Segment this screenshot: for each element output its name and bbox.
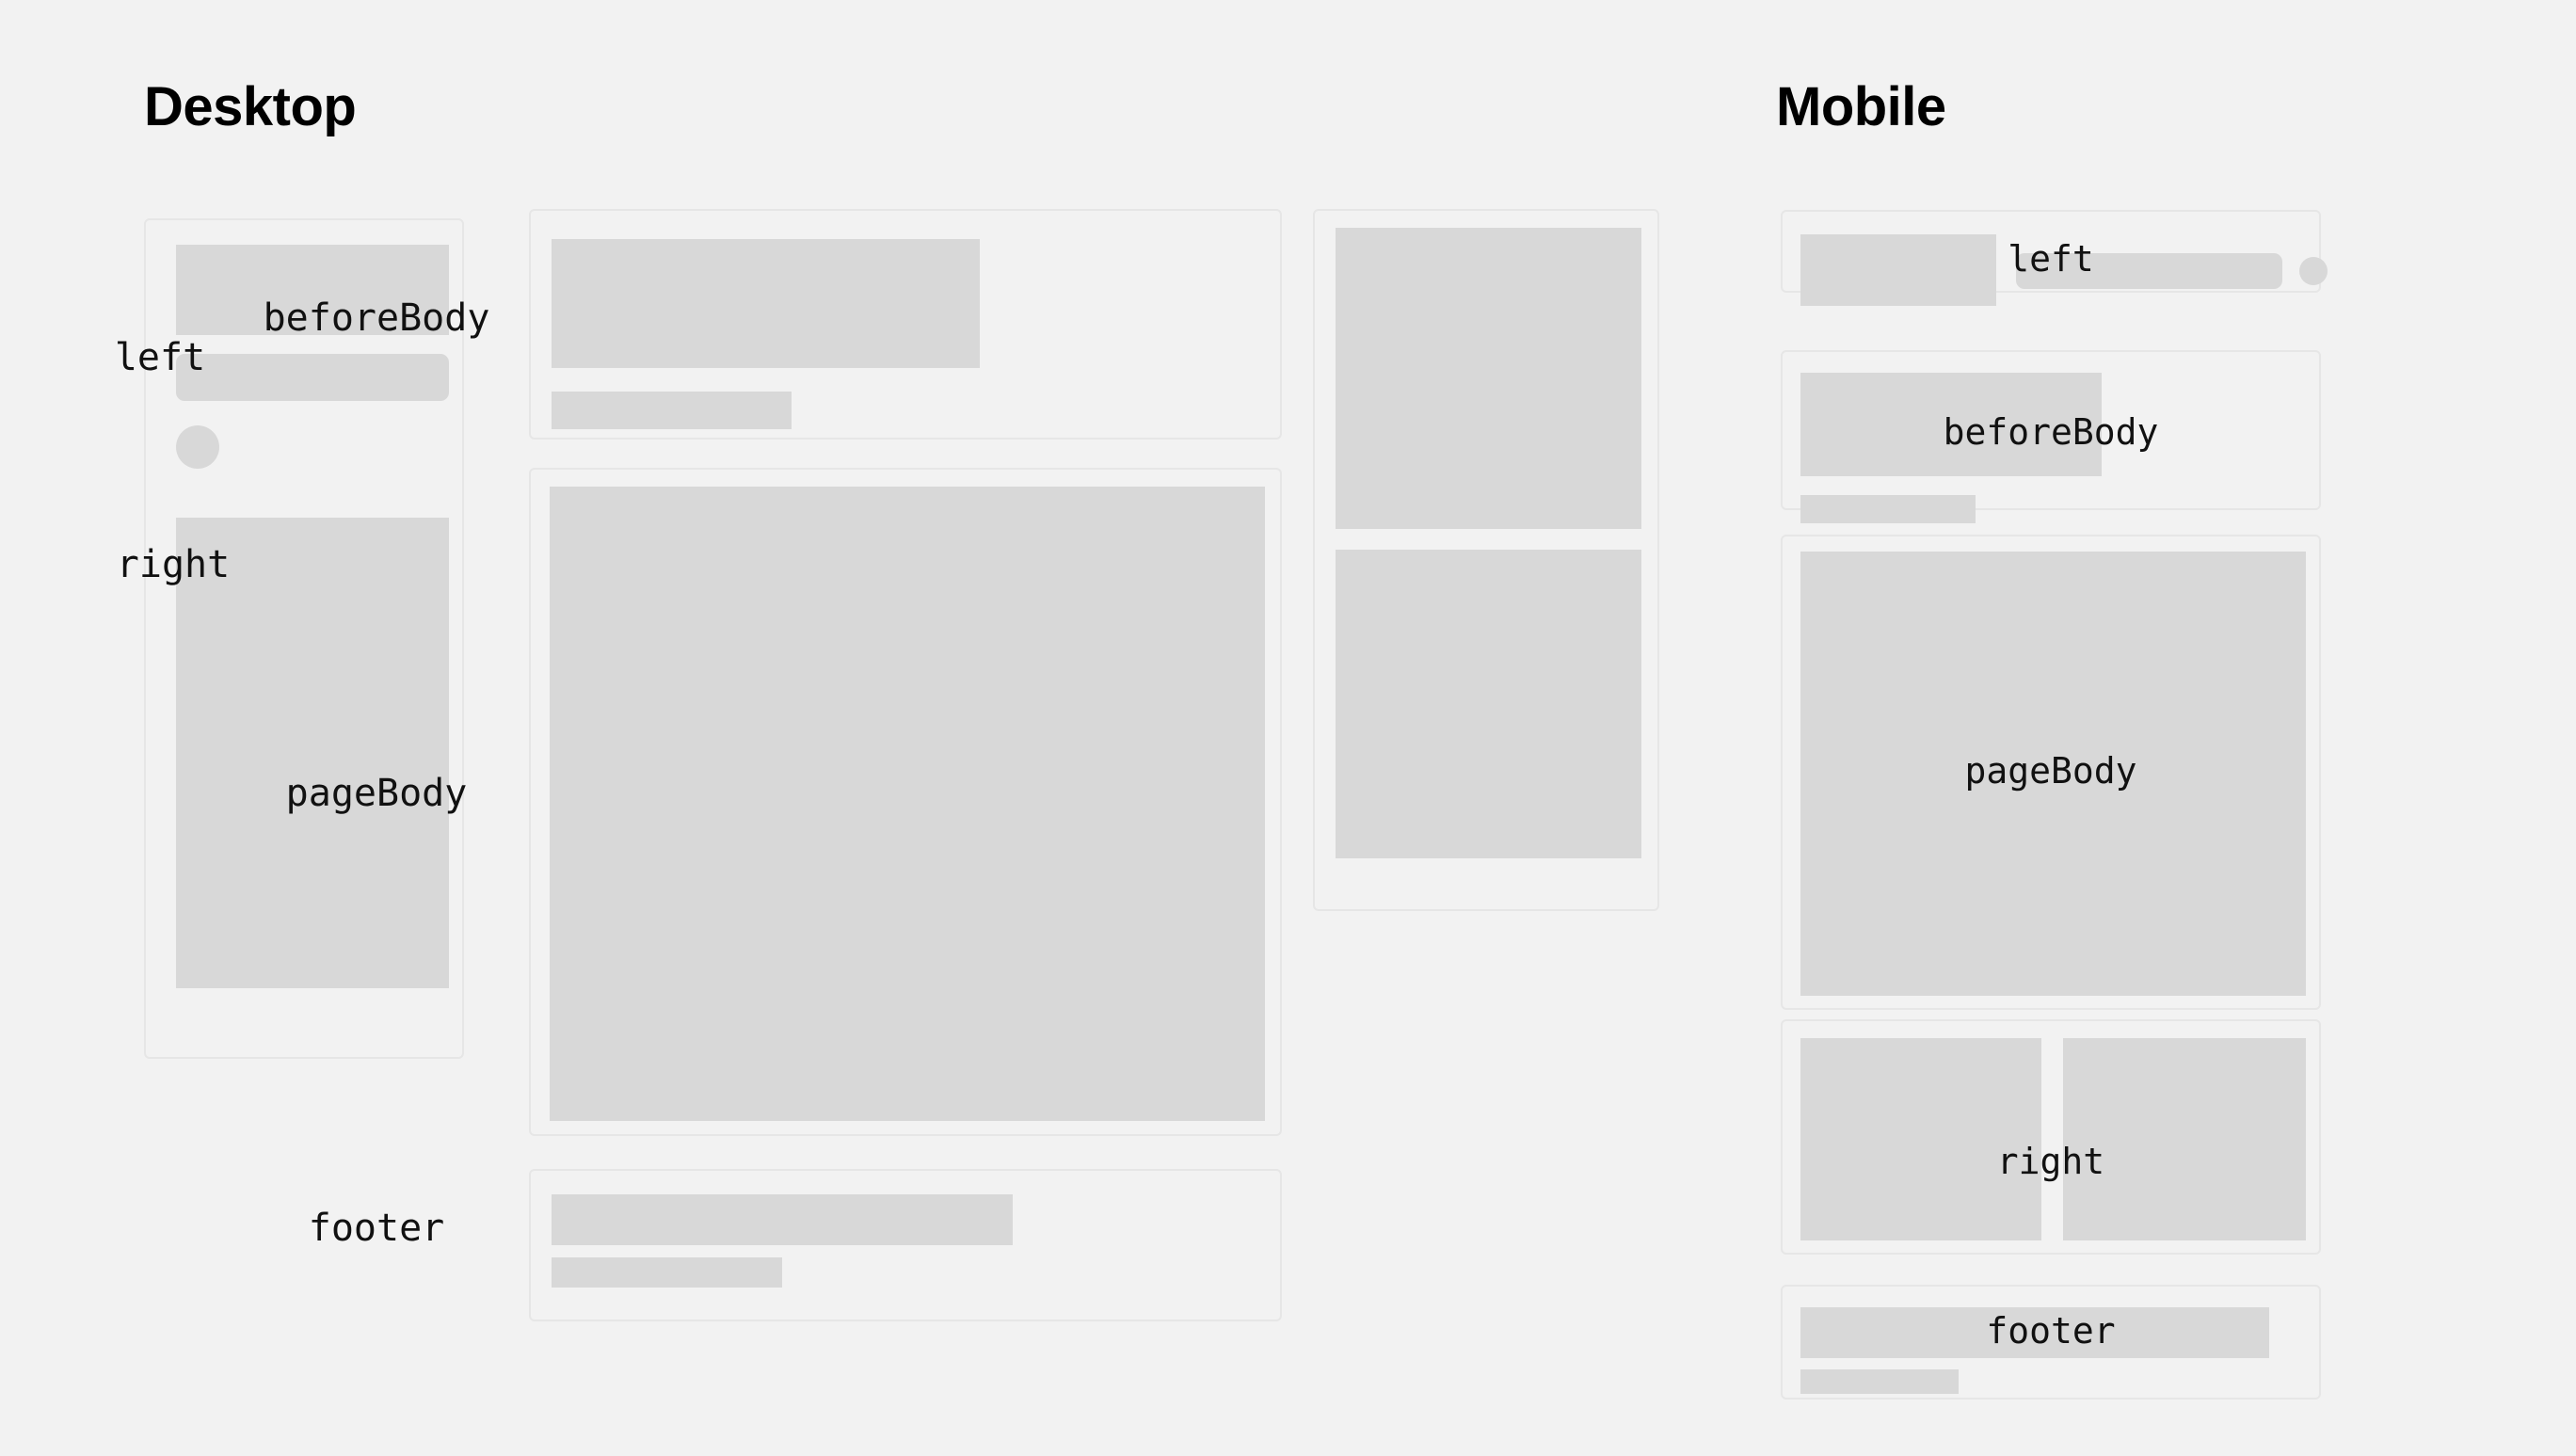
mobile-beforebody-slot-panel[interactable] [1781, 350, 2321, 510]
skeleton-circle [176, 425, 219, 469]
skeleton-block-small [1800, 1369, 1959, 1394]
skeleton-block-large [550, 487, 1265, 1121]
desktop-right-slot-panel[interactable] [1313, 209, 1659, 911]
mobile-section-title: Mobile [1776, 80, 1946, 135]
skeleton-block [552, 1194, 1013, 1245]
skeleton-block [1336, 228, 1641, 529]
skeleton-pill [2016, 253, 2282, 289]
skeleton-block-small [1800, 495, 1976, 523]
skeleton-block-small [552, 392, 792, 429]
mobile-left-slot-panel[interactable] [1781, 210, 2321, 293]
skeleton-circle [2299, 257, 2328, 285]
desktop-footer-slot-panel[interactable] [529, 1169, 1282, 1321]
skeleton-block [1800, 1038, 2041, 1240]
skeleton-block-small [552, 1257, 782, 1288]
mobile-pagebody-slot-panel[interactable] [1781, 535, 2321, 1010]
skeleton-block [552, 239, 980, 368]
skeleton-block [1800, 1307, 2269, 1358]
desktop-pagebody-slot-panel[interactable] [529, 468, 1282, 1136]
skeleton-block [2063, 1038, 2306, 1240]
mobile-right-slot-panel[interactable] [1781, 1019, 2321, 1255]
skeleton-block-large [1800, 552, 2306, 996]
desktop-left-slot-panel[interactable] [144, 218, 464, 1059]
skeleton-block-large [176, 518, 449, 988]
desktop-beforebody-slot-panel[interactable] [529, 209, 1282, 440]
skeleton-pill [176, 354, 449, 401]
skeleton-block [1336, 550, 1641, 858]
skeleton-block [1800, 234, 1996, 306]
layout-preview-canvas: Desktop left beforeBody pageBody right f… [0, 0, 2576, 1456]
desktop-section-title: Desktop [144, 80, 356, 135]
skeleton-block [1800, 373, 2102, 476]
skeleton-block [176, 245, 449, 335]
mobile-footer-slot-panel[interactable] [1781, 1285, 2321, 1400]
